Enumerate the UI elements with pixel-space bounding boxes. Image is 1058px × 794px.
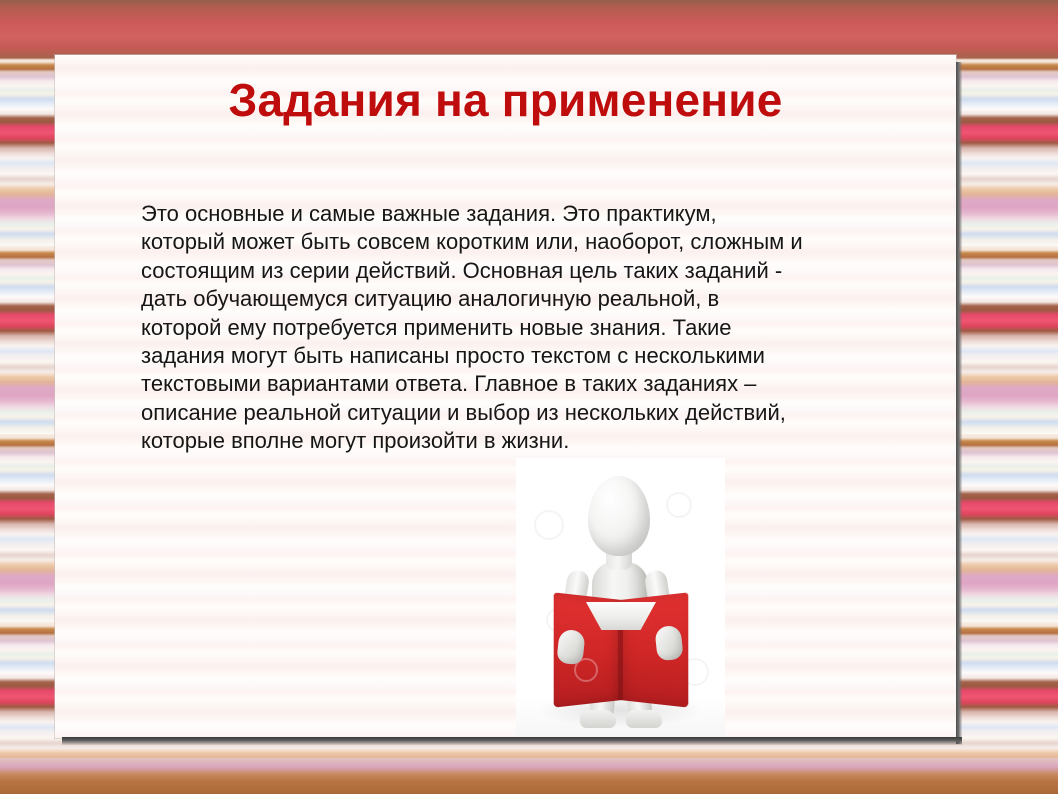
bottom-border-band	[0, 758, 1058, 794]
body-paragraph: Это основные и самые важные задания. Это…	[141, 200, 893, 456]
presentation-slide: Задания на применение Это основные и сам…	[0, 0, 1058, 794]
top-border-band	[0, 0, 1058, 58]
body-line: задания могут быть написаны просто текст…	[141, 342, 893, 370]
body-line: текстовыми вариантами ответа. Главное в …	[141, 370, 893, 398]
body-line: которой ему потребуется применить новые …	[141, 314, 893, 342]
mannequin-head	[588, 476, 650, 556]
body-line: который может быть совсем коротким или, …	[141, 228, 893, 256]
mannequin-foot-right	[626, 710, 662, 728]
card-shadow-bottom	[62, 737, 962, 745]
watermark-swirl-icon	[666, 492, 692, 518]
card-shadow-right	[956, 62, 962, 744]
body-line: дать обучающемуся ситуацию аналогичную р…	[141, 285, 893, 313]
mannequin-foot-left	[580, 710, 616, 728]
body-line: состоящим из серии действий. Основная це…	[141, 257, 893, 285]
watermark-swirl-icon	[534, 510, 564, 540]
body-line: которые вполне могут произойти в жизни.	[141, 427, 893, 455]
body-line: описание реальной ситуации и выбор из не…	[141, 399, 893, 427]
body-line: Это основные и самые важные задания. Это…	[141, 200, 893, 228]
reading-figure-image	[516, 458, 725, 737]
page-title: Задания на применение	[55, 73, 956, 127]
